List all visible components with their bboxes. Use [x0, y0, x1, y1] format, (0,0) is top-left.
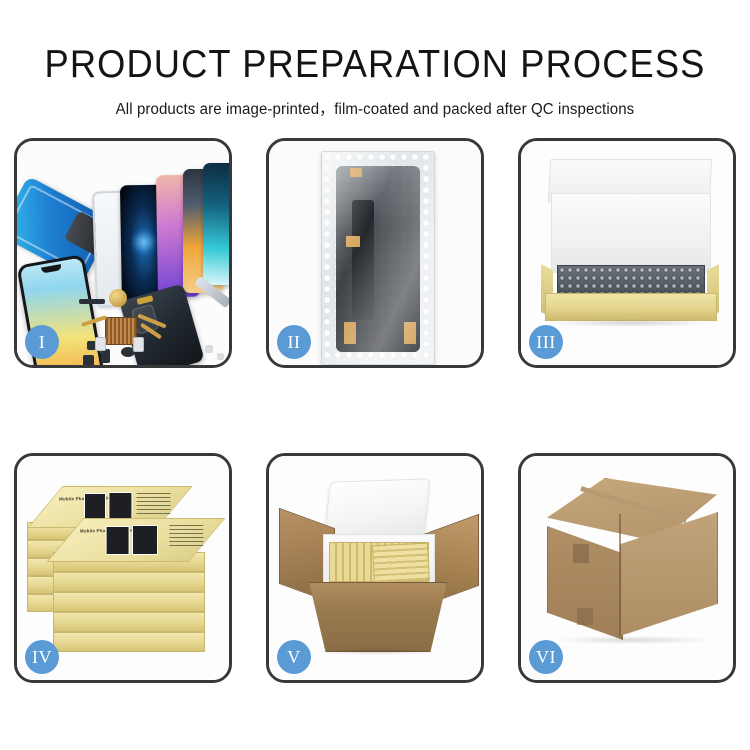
stacked-box: [53, 572, 205, 592]
stacked-box: [53, 632, 205, 652]
process-step-card-6: VI: [518, 453, 736, 683]
step-badge-3: III: [529, 325, 563, 359]
page-title: PRODUCT PREPARATION PROCESS: [26, 0, 724, 84]
page-subtitle: All products are image-printed，film-coat…: [11, 84, 739, 118]
product-preparation-process-infographic: PRODUCT PREPARATION PROCESS All products…: [0, 0, 750, 750]
sim-tray-icon: [133, 337, 144, 352]
printed-phone-image: [84, 493, 106, 521]
drop-shadow: [555, 636, 711, 644]
process-steps-grid: I II: [14, 138, 736, 684]
sim-tray-icon: [95, 337, 106, 351]
printed-phone-image: [108, 492, 132, 521]
yellow-box-front: [545, 293, 717, 321]
process-step-card-2: II: [266, 138, 484, 368]
header: PRODUCT PREPARATION PROCESS All products…: [0, 0, 750, 118]
yellow-boxes-row: [372, 543, 430, 584]
small-part-icon: [101, 349, 110, 363]
step-badge-1: I: [25, 325, 59, 359]
small-part-icon: [79, 299, 105, 304]
styrofoam-lid: [324, 478, 431, 541]
plastic-sheen: [322, 152, 434, 364]
teal-phone-icon: [203, 163, 229, 285]
speaker-coil-icon: [109, 289, 127, 307]
step-badge-2: II: [277, 325, 311, 359]
process-step-card-1: I: [14, 138, 232, 368]
printed-phone-image: [132, 525, 158, 555]
screw-icon: [205, 345, 213, 353]
carton-body: [309, 582, 447, 652]
printed-spec-lines: [169, 525, 203, 547]
stacked-box: [53, 592, 205, 612]
process-step-card-3: III: [518, 138, 736, 368]
carton-tab: [573, 544, 589, 563]
drop-shadow: [551, 319, 711, 327]
screw-icon: [217, 353, 224, 360]
carton-edge: [619, 514, 621, 636]
stacked-box: [53, 612, 205, 632]
carton-tab: [577, 608, 593, 625]
small-part-icon: [83, 355, 94, 365]
white-foam-sheet: [551, 193, 711, 273]
step-badge-6: VI: [529, 640, 563, 674]
process-step-card-5: V: [266, 453, 484, 683]
bubble-wrap-package-icon: [321, 151, 435, 365]
printed-phone-image: [106, 526, 130, 555]
step-badge-4: IV: [25, 640, 59, 674]
process-step-card-4: Mobile Phone Spare Parts Mobile Phone Sp…: [14, 453, 232, 683]
step-badge-5: V: [277, 640, 311, 674]
drop-shadow: [315, 648, 439, 655]
printed-spec-lines: [137, 493, 171, 515]
